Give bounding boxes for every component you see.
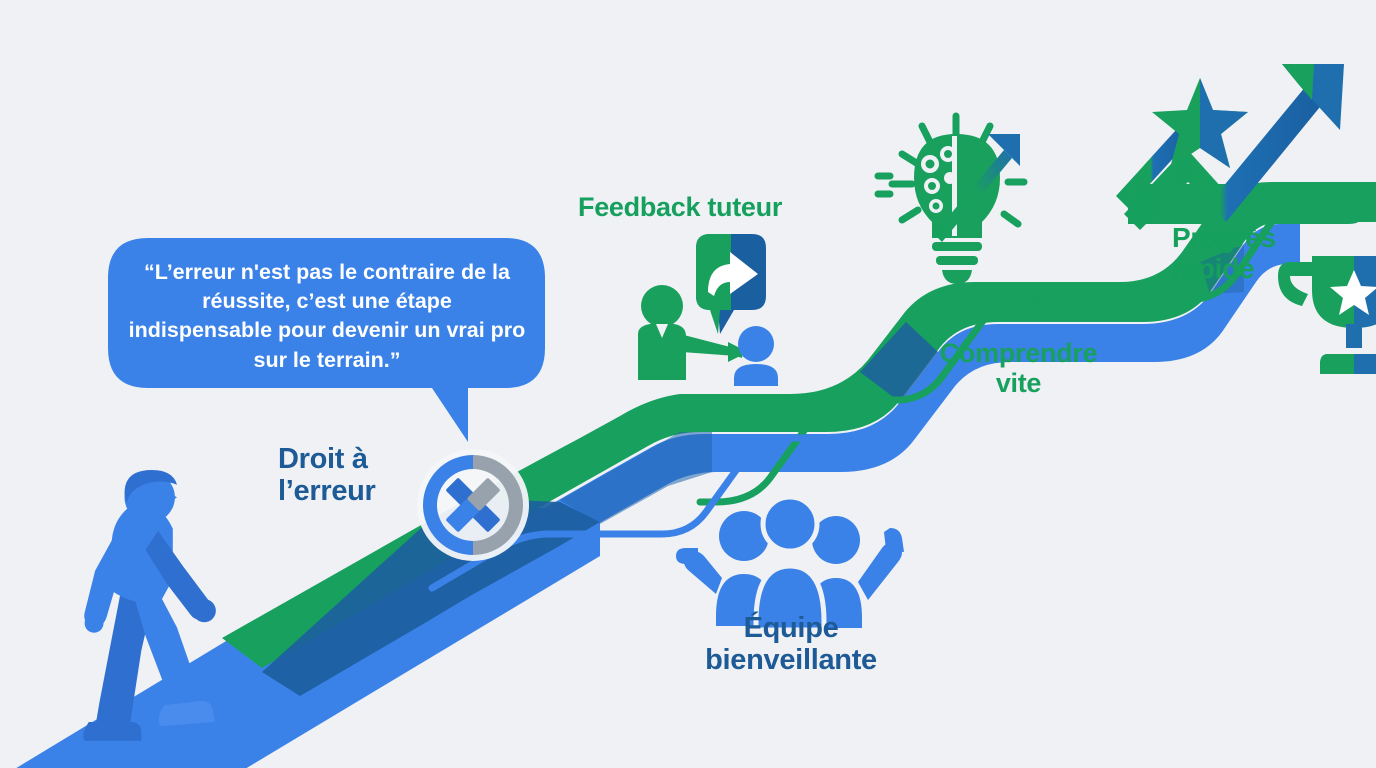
step-label-equipe-bienveillante: Équipe bienveillante [686,612,896,677]
infographic-canvas: “L’erreur n'est pas le contraire de la r… [0,0,1376,768]
step-label-feedback-tuteur: Feedback tuteur [578,192,828,222]
quote-text: “L’erreur n'est pas le contraire de la r… [128,258,526,375]
step-label-progres-rapide: Progrès rapide [1172,222,1332,285]
circle-x-icon [417,449,529,561]
step-label-droit-a-l-erreur: Droit à l’erreur [278,443,408,508]
step-label-comprendre-vite: Comprendre vite [926,338,1111,398]
